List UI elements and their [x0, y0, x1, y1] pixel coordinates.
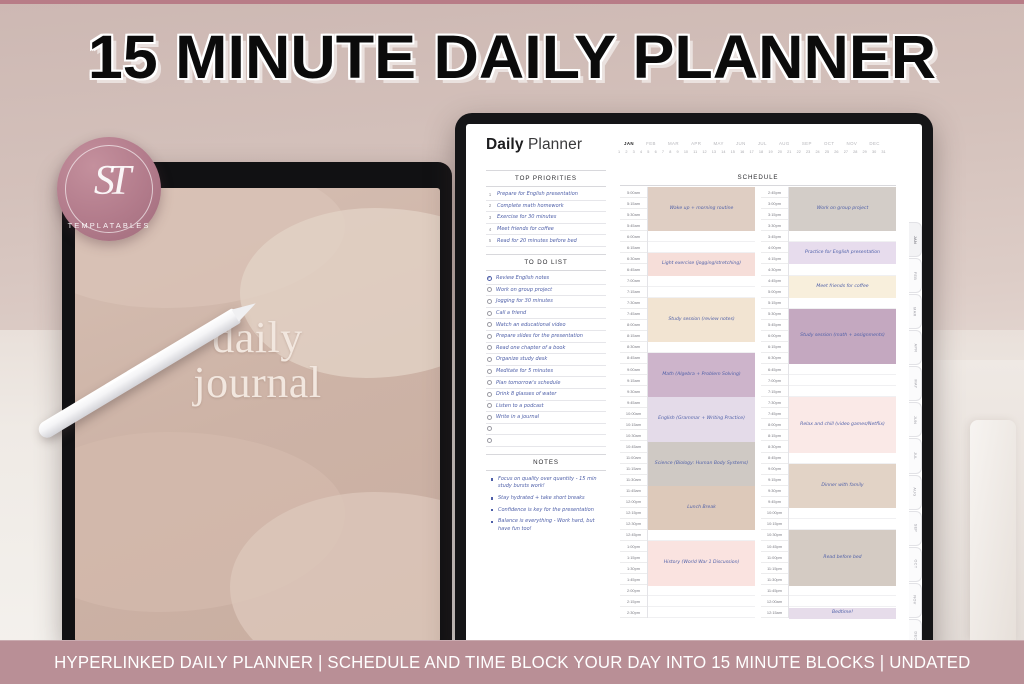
- todo-text: Call a friend: [496, 310, 606, 316]
- schedule-morning-event-block[interactable]: English (Grammar + Writing Practice): [648, 397, 755, 441]
- month-option-jan[interactable]: JAN: [624, 141, 634, 146]
- schedule-afternoon-slot[interactable]: [789, 298, 896, 309]
- checkbox-icon[interactable]: [487, 403, 492, 408]
- month-tab-may[interactable]: MAY: [909, 366, 922, 401]
- schedule-afternoon-time-label: 6:00pm: [761, 331, 788, 342]
- month-option-sep[interactable]: SEP: [802, 141, 812, 146]
- schedule-morning-time-label: 9:00am: [620, 364, 647, 375]
- schedule-afternoon-time-label: 11:00pm: [761, 552, 788, 563]
- todo-row[interactable]: Drink 8 glasses of water: [486, 389, 606, 401]
- templatables-logo-badge: ST TEMPLATABLES: [57, 137, 161, 241]
- priority-text: Read for 20 minutes before bed: [497, 238, 606, 244]
- schedule-morning-time-label: 2:15pm: [620, 596, 647, 607]
- day-option-17[interactable]: 17: [749, 150, 753, 154]
- schedule-afternoon-slot[interactable]: [789, 508, 896, 519]
- note-item: Stay hydrated + take short breaks: [490, 495, 604, 502]
- month-selector[interactable]: JANFEBMARAPRMAYJUNJULAUGSEPOCTNOVDEC: [618, 141, 886, 146]
- schedule-morning-time-label: 12:00pm: [620, 497, 647, 508]
- schedule-afternoon-event-block[interactable]: Relax and chill (video games/Netflix): [789, 397, 896, 452]
- schedule-morning-time-label: 7:45am: [620, 309, 647, 320]
- month-tab-jul[interactable]: JUL: [909, 438, 922, 473]
- schedule-morning-time-label: 9:45am: [620, 397, 647, 408]
- schedule-morning-event-block[interactable]: Math (Algebra + Problem Solving): [648, 353, 755, 397]
- schedule-morning-slot[interactable]: [648, 342, 755, 353]
- todo-row[interactable]: Write in a journal: [486, 412, 606, 424]
- schedule-afternoon-event-block[interactable]: Read before bed: [789, 530, 896, 585]
- day-option-11[interactable]: 11: [693, 150, 697, 154]
- month-tab-mar[interactable]: MAR: [909, 294, 922, 329]
- schedule-morning-time-label: 5:30am: [620, 209, 647, 220]
- priority-text: Meet friends for coffee: [497, 226, 606, 232]
- todo-text: Read one chapter of a book: [496, 345, 606, 351]
- schedule-morning-time-label: 11:30am: [620, 475, 647, 486]
- todo-list-heading: TO DO LIST: [486, 254, 606, 271]
- schedule-morning-times: 5:00am5:15am5:30am5:45am6:00am6:15am6:30…: [620, 187, 647, 618]
- month-option-aug[interactable]: AUG: [779, 141, 790, 146]
- schedule-afternoon-time-label: 6:30pm: [761, 353, 788, 364]
- schedule-afternoon-time-label: 9:00pm: [761, 464, 788, 475]
- top-priorities-heading: TOP PRIORITIES: [486, 170, 606, 187]
- schedule-morning-time-label: 6:45am: [620, 264, 647, 275]
- checkbox-icon[interactable]: [487, 299, 492, 304]
- schedule-afternoon-time-label: 12:15am: [761, 607, 788, 618]
- month-tab-label: SEP: [913, 524, 917, 533]
- schedule-afternoon-time-label: 9:45pm: [761, 497, 788, 508]
- day-option-25[interactable]: 25: [825, 150, 829, 154]
- schedule-morning-time-label: 6:15am: [620, 242, 647, 253]
- schedule-morning-time-label: 8:45am: [620, 353, 647, 364]
- schedule-morning-time-label: 11:15am: [620, 464, 647, 475]
- schedule-afternoon-time-label: 11:45pm: [761, 585, 788, 596]
- todo-text: Write in a journal: [496, 414, 606, 420]
- day-option-21[interactable]: 21: [787, 150, 791, 154]
- checkbox-icon[interactable]: [487, 415, 492, 420]
- schedule-morning-time-label: 10:45am: [620, 441, 647, 452]
- schedule-afternoon-time-label: 5:15pm: [761, 298, 788, 309]
- schedule-morning-time-label: 7:15am: [620, 287, 647, 298]
- month-option-apr[interactable]: APR: [691, 141, 701, 146]
- schedule-afternoon-time-label: 5:30pm: [761, 309, 788, 320]
- priority-row[interactable]: 1Prepare for English presentation: [486, 189, 606, 201]
- todo-text: Organize study desk: [496, 356, 606, 362]
- day-option-5[interactable]: 5: [647, 150, 649, 154]
- schedule-afternoon-slots[interactable]: Work on group projectPractice for Englis…: [788, 187, 896, 618]
- schedule-afternoon-time-label: 5:45pm: [761, 320, 788, 331]
- schedule-morning-time-label: 5:00am: [620, 187, 647, 198]
- schedule-afternoon-time-label: 3:30pm: [761, 220, 788, 231]
- todo-text: Prepare slides for the presentation: [496, 333, 606, 339]
- priority-text: Prepare for English presentation: [497, 191, 606, 197]
- checkbox-icon[interactable]: [487, 322, 492, 327]
- todo-text: Review English notes: [496, 275, 606, 281]
- schedule-morning-time-label: 6:00am: [620, 231, 647, 242]
- schedule-morning-time-label: 1:30pm: [620, 563, 647, 574]
- schedule-afternoon-slot[interactable]: [789, 375, 896, 386]
- checkbox-icon[interactable]: [487, 438, 492, 443]
- schedule-afternoon-time-label: 7:45pm: [761, 408, 788, 419]
- checkbox-icon[interactable]: [487, 287, 492, 292]
- schedule-morning-time-label: 5:45am: [620, 220, 647, 231]
- todo-row[interactable]: [486, 435, 606, 447]
- day-option-6[interactable]: 6: [655, 150, 657, 154]
- priority-text: Exercise for 30 minutes: [497, 214, 606, 220]
- day-option-16[interactable]: 16: [740, 150, 744, 154]
- priority-number: 4: [487, 227, 493, 232]
- schedule-morning-time-label: 1:00pm: [620, 541, 647, 552]
- schedule-afternoon-time-label: 11:15pm: [761, 563, 788, 574]
- month-tab-label: JUL: [913, 452, 917, 460]
- day-option-10[interactable]: 10: [684, 150, 688, 154]
- month-tab-jun[interactable]: JUN: [909, 402, 922, 437]
- schedule-afternoon-column: 2:45pm3:00pm3:15pm3:30pm3:45pm4:00pm4:15…: [761, 187, 896, 618]
- schedule-morning-event-block[interactable]: Lunch Break: [648, 486, 755, 530]
- checkbox-icon[interactable]: [487, 334, 492, 339]
- schedule-afternoon-time-label: 4:30pm: [761, 264, 788, 275]
- day-option-29[interactable]: 29: [863, 150, 867, 154]
- planner-title-light: Planner: [524, 136, 583, 153]
- notes-list: Focus on quality over quantity - 15 min …: [486, 473, 606, 533]
- month-tab-feb[interactable]: FEB: [909, 258, 922, 293]
- todo-text: Watch an educational video: [496, 322, 606, 328]
- month-option-nov[interactable]: NOV: [847, 141, 858, 146]
- bottom-banner-text: HYPERLINKED DAILY PLANNER | SCHEDULE AND…: [54, 652, 970, 673]
- note-item: Balance is everything - Work hard, but h…: [490, 518, 604, 533]
- schedule-afternoon-event-block[interactable]: Study session (math + assignments): [789, 309, 896, 364]
- schedule-morning-time-label: 8:00am: [620, 320, 647, 331]
- month-option-feb[interactable]: FEB: [646, 141, 656, 146]
- schedule-morning-time-label: 1:15pm: [620, 552, 647, 563]
- schedule-morning-event-block[interactable]: Study session (review notes): [648, 298, 755, 342]
- month-tab-label: JUN: [913, 416, 917, 424]
- schedule-afternoon-time-label: 10:30pm: [761, 530, 788, 541]
- bottom-banner: HYPERLINKED DAILY PLANNER | SCHEDULE AND…: [0, 640, 1024, 684]
- month-tab-label: MAR: [913, 307, 917, 316]
- month-tab-label: FEB: [913, 271, 917, 279]
- schedule-morning-slots[interactable]: Wake up + morning routineLight exercise …: [647, 187, 755, 618]
- schedule-afternoon-time-label: 6:45pm: [761, 364, 788, 375]
- day-option-23[interactable]: 23: [806, 150, 810, 154]
- priority-row[interactable]: 2Complete math homework: [486, 201, 606, 213]
- month-tab-aug[interactable]: AUG: [909, 475, 922, 510]
- month-tab-sep[interactable]: SEP: [909, 511, 922, 546]
- day-option-15[interactable]: 15: [731, 150, 735, 154]
- month-tab-label: MAY: [913, 379, 917, 388]
- month-tab-strip[interactable]: JANFEBMARAPRMAYJUNJULAUGSEPOCTNOVDEC: [909, 222, 922, 654]
- schedule-afternoon-time-label: 10:15pm: [761, 519, 788, 530]
- schedule-afternoon-slot[interactable]: [789, 519, 896, 530]
- journal-cover-title: daily journal: [75, 316, 440, 406]
- day-option-31[interactable]: 31: [881, 150, 885, 154]
- schedule-morning-slot[interactable]: [648, 607, 755, 618]
- schedule-morning-time-label: 9:15am: [620, 375, 647, 386]
- day-option-8[interactable]: 8: [669, 150, 671, 154]
- schedule-afternoon-times: 2:45pm3:00pm3:15pm3:30pm3:45pm4:00pm4:15…: [761, 187, 788, 618]
- planner-screen: Daily Planner JANFEBMARAPRMAYJUNJULAUGSE…: [466, 124, 922, 658]
- schedule-morning-event-block[interactable]: History (World War 1 Discussion): [648, 541, 755, 585]
- schedule-afternoon-time-label: 7:15pm: [761, 386, 788, 397]
- schedule-afternoon-slot[interactable]: [789, 596, 896, 607]
- schedule-morning-slot[interactable]: [648, 242, 755, 253]
- day-option-27[interactable]: 27: [844, 150, 848, 154]
- schedule-morning-time-label: 10:15am: [620, 419, 647, 430]
- schedule-morning-time-label: 11:00am: [620, 453, 647, 464]
- day-option-19[interactable]: 19: [768, 150, 772, 154]
- schedule-afternoon-time-label: 3:15pm: [761, 209, 788, 220]
- schedule-morning-slot[interactable]: [648, 276, 755, 287]
- day-option-18[interactable]: 18: [759, 150, 763, 154]
- journal-cover: daily journal: [75, 188, 440, 642]
- todo-row[interactable]: Call a friend: [486, 308, 606, 320]
- schedule-afternoon-time-label: 4:45pm: [761, 276, 788, 287]
- schedule-morning-time-label: 10:30am: [620, 430, 647, 441]
- todo-text: Meditate for 5 minutes: [496, 368, 606, 374]
- month-tab-oct[interactable]: OCT: [909, 547, 922, 582]
- schedule-afternoon-slot[interactable]: [789, 585, 896, 596]
- schedule-morning-time-label: 11:45am: [620, 486, 647, 497]
- checkbox-icon[interactable]: [487, 357, 492, 362]
- section-spacer: [486, 447, 606, 454]
- day-option-12[interactable]: 12: [702, 150, 706, 154]
- checkbox-checked-icon[interactable]: [487, 276, 492, 281]
- priority-row[interactable]: 5Read for 20 minutes before bed: [486, 235, 606, 247]
- todo-row[interactable]: Work on group project: [486, 285, 606, 297]
- schedule-morning-time-label: 8:15am: [620, 331, 647, 342]
- schedule-morning-slot[interactable]: [648, 596, 755, 607]
- notes-heading: NOTES: [486, 454, 606, 471]
- page-title: 15 MINUTE DAILY PLANNER: [0, 18, 1024, 96]
- month-tab-label: APR: [913, 343, 917, 352]
- top-priorities-list: 1Prepare for English presentation2Comple…: [486, 189, 606, 247]
- schedule-morning-event-block[interactable]: Wake up + morning routine: [648, 187, 755, 231]
- day-option-3[interactable]: 3: [633, 150, 635, 154]
- schedule-afternoon-time-label: 8:45pm: [761, 453, 788, 464]
- schedule-afternoon-slot[interactable]: [789, 264, 896, 275]
- day-option-9[interactable]: 9: [677, 150, 679, 154]
- schedule-morning-time-label: 1:45pm: [620, 574, 647, 585]
- schedule-afternoon-time-label: 3:45pm: [761, 231, 788, 242]
- day-option-14[interactable]: 14: [721, 150, 725, 154]
- schedule-morning-slot[interactable]: [648, 231, 755, 242]
- month-tab-label: OCT: [913, 560, 917, 569]
- schedule-afternoon-event-block[interactable]: Dinner with family: [789, 464, 896, 508]
- schedule-morning-slot[interactable]: [648, 530, 755, 541]
- schedule-morning-event-block[interactable]: Light exercise (jogging/stretching): [648, 253, 755, 275]
- cover-title-line1: daily: [75, 316, 440, 361]
- schedule-afternoon-time-label: 7:00pm: [761, 375, 788, 386]
- schedule-morning-slot[interactable]: [648, 585, 755, 596]
- month-option-jun[interactable]: JUN: [736, 141, 746, 146]
- schedule-afternoon-slot[interactable]: [789, 453, 896, 464]
- day-option-26[interactable]: 26: [834, 150, 838, 154]
- todo-list: Review English notesWork on group projec…: [486, 273, 606, 447]
- schedule-afternoon-time-label: 7:30pm: [761, 397, 788, 408]
- checkbox-icon[interactable]: [487, 380, 492, 385]
- schedule-afternoon-time-label: 10:45pm: [761, 541, 788, 552]
- day-option-2[interactable]: 2: [625, 150, 627, 154]
- priority-number: 1: [487, 192, 493, 197]
- day-option-30[interactable]: 30: [872, 150, 876, 154]
- schedule-morning-time-label: 12:45pm: [620, 530, 647, 541]
- schedule-afternoon-time-label: 2:45pm: [761, 187, 788, 198]
- schedule-morning-time-label: 7:00am: [620, 276, 647, 287]
- schedule-afternoon-time-label: 8:15pm: [761, 430, 788, 441]
- planner-right-column: SCHEDULE 5:00am5:15am5:30am5:45am6:00am6…: [614, 170, 922, 658]
- schedule-morning-time-label: 6:30am: [620, 253, 647, 264]
- schedule-afternoon-event-block[interactable]: Meet friends for coffee: [789, 276, 896, 298]
- month-tab-label: NOV: [913, 596, 917, 605]
- schedule-afternoon-event-block[interactable]: Work on group project: [789, 187, 896, 231]
- schedule-afternoon-slot[interactable]: [789, 386, 896, 397]
- schedule-morning-column: 5:00am5:15am5:30am5:45am6:00am6:15am6:30…: [620, 187, 755, 618]
- schedule-afternoon-event-block[interactable]: Bedtime!: [789, 608, 896, 619]
- schedule-afternoon-time-label: 10:00pm: [761, 508, 788, 519]
- schedule-afternoon-time-label: 11:30pm: [761, 574, 788, 585]
- planner-title-bold: Daily: [486, 136, 524, 153]
- schedule-heading: SCHEDULE: [620, 170, 896, 186]
- schedule-morning-time-label: 10:00am: [620, 408, 647, 419]
- month-tab-label: AUG: [913, 487, 917, 496]
- schedule-morning-time-label: 2:00pm: [620, 585, 647, 596]
- note-item: Focus on quality over quantity - 15 min …: [490, 476, 604, 491]
- schedule-afternoon-time-label: 9:15pm: [761, 475, 788, 486]
- schedule-body: 5:00am5:15am5:30am5:45am6:00am6:15am6:30…: [620, 187, 896, 618]
- month-tab-jan[interactable]: JAN: [909, 222, 922, 257]
- day-option-1[interactable]: 1: [618, 150, 620, 154]
- month-option-dec[interactable]: DEC: [869, 141, 879, 146]
- checkbox-icon[interactable]: [487, 311, 492, 316]
- priority-number: 3: [487, 215, 493, 220]
- schedule-afternoon-time-label: 5:00pm: [761, 287, 788, 298]
- day-selector[interactable]: 1234567891011121314151617181920212223242…: [618, 150, 886, 154]
- logo-monogram-icon: ST: [57, 157, 161, 205]
- schedule-morning-time-label: 12:30pm: [620, 519, 647, 530]
- planner-left-column: TOP PRIORITIES 1Prepare for English pres…: [466, 170, 614, 658]
- day-option-20[interactable]: 20: [778, 150, 782, 154]
- schedule-morning-time-label: 7:30am: [620, 298, 647, 309]
- todo-row[interactable]: Plan tomorrow's schedule: [486, 377, 606, 389]
- day-option-7[interactable]: 7: [662, 150, 664, 154]
- tablet-right-device: Daily Planner JANFEBMARAPRMAYJUNJULAUGSE…: [455, 113, 933, 658]
- month-tab-label: JAN: [913, 235, 917, 243]
- schedule-afternoon-time-label: 8:00pm: [761, 419, 788, 430]
- checkbox-icon[interactable]: [487, 392, 492, 397]
- background-right-object-secondary: [970, 420, 1016, 640]
- todo-row[interactable]: Review English notes: [486, 273, 606, 285]
- schedule-afternoon-time-label: 9:30pm: [761, 486, 788, 497]
- checkbox-icon[interactable]: [487, 426, 492, 431]
- priority-row[interactable]: 4Meet friends for coffee: [486, 224, 606, 236]
- schedule-afternoon-time-label: 4:15pm: [761, 253, 788, 264]
- schedule-morning-time-label: 8:30am: [620, 342, 647, 353]
- todo-row[interactable]: [486, 424, 606, 436]
- month-option-jul[interactable]: JUL: [758, 141, 767, 146]
- checkbox-icon[interactable]: [487, 369, 492, 374]
- date-selector-bar[interactable]: JANFEBMARAPRMAYJUNJULAUGSEPOCTNOVDEC 123…: [618, 141, 886, 154]
- schedule-afternoon-slot[interactable]: [789, 364, 896, 375]
- schedule-afternoon-time-label: 6:15pm: [761, 342, 788, 353]
- planner-columns: TOP PRIORITIES 1Prepare for English pres…: [466, 170, 922, 658]
- todo-row[interactable]: Meditate for 5 minutes: [486, 366, 606, 378]
- schedule-morning-time-label: 5:15am: [620, 198, 647, 209]
- checkbox-icon[interactable]: [487, 345, 492, 350]
- todo-row[interactable]: Organize study desk: [486, 354, 606, 366]
- day-option-28[interactable]: 28: [853, 150, 857, 154]
- day-option-22[interactable]: 22: [797, 150, 801, 154]
- month-option-mar[interactable]: MAR: [668, 141, 679, 146]
- schedule-afternoon-time-label: 3:00pm: [761, 198, 788, 209]
- todo-row[interactable]: Jogging for 30 minutes: [486, 296, 606, 308]
- schedule-morning-time-label: 9:30am: [620, 386, 647, 397]
- logo-brand-text: TEMPLATABLES: [57, 221, 161, 230]
- section-spacer: [486, 247, 606, 254]
- todo-text: Jogging for 30 minutes: [496, 298, 606, 304]
- schedule-morning-event-block[interactable]: Science (Biology: Human Body Systems): [648, 442, 755, 486]
- todo-row[interactable]: Watch an educational video: [486, 319, 606, 331]
- top-accent-line: [0, 0, 1024, 4]
- todo-row[interactable]: Listen to a podcast: [486, 401, 606, 413]
- todo-row[interactable]: Prepare slides for the presentation: [486, 331, 606, 343]
- todo-text: Work on group project: [496, 287, 606, 293]
- month-option-may[interactable]: MAY: [713, 141, 723, 146]
- schedule-morning-time-label: 2:30pm: [620, 607, 647, 618]
- day-option-24[interactable]: 24: [815, 150, 819, 154]
- todo-text: Plan tomorrow's schedule: [496, 380, 606, 386]
- schedule-afternoon-time-label: 4:00pm: [761, 242, 788, 253]
- priority-number: 5: [487, 238, 493, 243]
- schedule-afternoon-event-block[interactable]: Practice for English presentation: [789, 242, 896, 264]
- schedule-afternoon-time-label: 12:00am: [761, 596, 788, 607]
- day-option-13[interactable]: 13: [712, 150, 716, 154]
- day-option-4[interactable]: 4: [640, 150, 642, 154]
- todo-row[interactable]: Read one chapter of a book: [486, 343, 606, 355]
- priority-row[interactable]: 3Exercise for 30 minutes: [486, 212, 606, 224]
- schedule-morning-slot[interactable]: [648, 287, 755, 298]
- note-item: Confidence is key for the presentation: [490, 507, 604, 514]
- month-tab-apr[interactable]: APR: [909, 330, 922, 365]
- priority-text: Complete math homework: [497, 203, 606, 209]
- priority-number: 2: [487, 203, 493, 208]
- month-option-oct[interactable]: OCT: [824, 141, 834, 146]
- todo-text: Listen to a podcast: [496, 403, 606, 409]
- month-tab-nov[interactable]: NOV: [909, 583, 922, 618]
- todo-text: Drink 8 glasses of water: [496, 391, 606, 397]
- schedule-afternoon-time-label: 8:30pm: [761, 441, 788, 452]
- schedule-afternoon-slot[interactable]: [789, 231, 896, 242]
- planner-header: Daily Planner JANFEBMARAPRMAYJUNJULAUGSE…: [466, 124, 922, 170]
- screenshot-stage: 15 MINUTE DAILY PLANNER ST TEMPLATABLES …: [0, 0, 1024, 684]
- schedule-morning-time-label: 12:15pm: [620, 508, 647, 519]
